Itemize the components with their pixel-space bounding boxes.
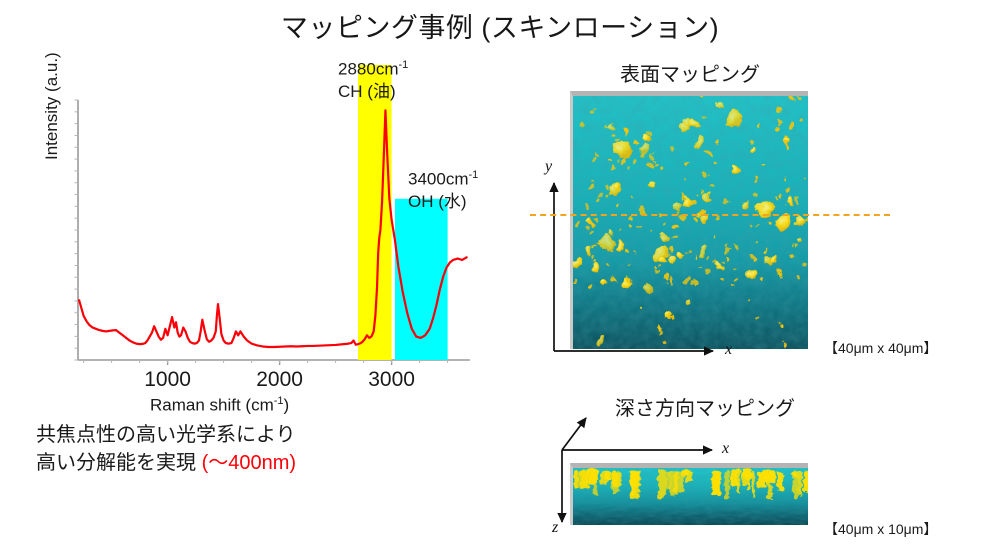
surface-droplet [601, 282, 604, 285]
surface-droplet [673, 202, 683, 212]
surface-droplet [662, 280, 664, 282]
surface-droplet [668, 276, 672, 280]
surface-droplet [789, 242, 791, 244]
surface-droplet [695, 256, 698, 259]
x-tick-label-3000: 3000 [347, 368, 437, 392]
depth-streak [658, 471, 666, 500]
surface-droplet [599, 194, 602, 197]
x-tick-label-2000: 2000 [235, 368, 325, 392]
surface-droplet [710, 185, 713, 188]
surface-droplet [785, 188, 790, 193]
surface-droplet [615, 241, 624, 250]
surface-droplet [777, 119, 781, 123]
x-axis-title-paren: ) [284, 396, 290, 415]
surface-droplet [616, 138, 619, 141]
surface-droplet [691, 120, 699, 128]
surface-droplet [749, 258, 754, 263]
surface-droplet [639, 145, 648, 154]
annotation-ch-wavenumber: 2880cm [338, 60, 398, 79]
surface-droplet [591, 182, 594, 185]
surface-droplet [621, 279, 630, 288]
depth-streak [757, 472, 767, 488]
depth-z-axis-label: z [552, 519, 558, 537]
surface-droplet [742, 202, 749, 209]
surface-droplet [668, 148, 672, 152]
surface-droplet [610, 263, 612, 265]
surface-droplet [728, 255, 732, 259]
surface-droplet [792, 124, 796, 128]
surface-droplet [642, 209, 645, 212]
surface-mapping-render [573, 96, 808, 349]
surface-droplet [774, 126, 778, 130]
depth-streak [736, 469, 740, 494]
annotation-ch-line2: CH (油) [338, 81, 408, 103]
depth-y-axis [562, 418, 586, 450]
surface-droplet [652, 158, 654, 160]
surface-droplet [725, 243, 729, 247]
depth-mapping-image [570, 463, 808, 525]
surface-droplet [647, 161, 652, 166]
surface-droplet [609, 249, 612, 252]
surface-droplet [674, 224, 678, 228]
surface-droplet [737, 277, 740, 280]
surface-droplet [612, 183, 618, 189]
surface-droplet [796, 276, 800, 280]
surface-droplet [670, 256, 677, 263]
surface-droplet [631, 195, 634, 198]
surface-droplet [734, 245, 739, 250]
surface-droplet [763, 248, 767, 252]
surface-droplet [598, 198, 603, 203]
surface-droplet [753, 193, 758, 198]
surface-droplet [702, 191, 712, 201]
depth-dimension-label: 【40μm x 10μm】 [824, 519, 937, 539]
depth-streak [574, 471, 579, 489]
surface-droplet [658, 265, 661, 268]
depth-streak [713, 469, 721, 496]
surface-droplet [633, 139, 638, 144]
annotation-oh-line1: 3400cm-1 [408, 168, 478, 191]
surface-droplet [732, 270, 735, 273]
surface-droplet [685, 277, 691, 283]
surface-droplet [639, 226, 641, 228]
depth-streak [685, 470, 693, 482]
surface-mapping-heading: 表面マッピング [560, 58, 820, 87]
surface-droplet [680, 216, 685, 221]
surface-droplet [694, 196, 697, 199]
surface-droplet [626, 166, 630, 170]
surface-dimension-label: 【40μm x 40μm】 [824, 338, 937, 358]
spectrum-plot-svg [30, 55, 510, 415]
depth-streak [631, 470, 639, 499]
depth-streak [777, 471, 783, 491]
surface-droplet [605, 281, 610, 286]
y-axis-title: Intensity (a.u.) [42, 52, 62, 160]
surface-droplet [749, 139, 754, 144]
surface-droplet [590, 187, 593, 190]
surface-droplet [707, 268, 712, 273]
surface-droplet [713, 161, 717, 165]
surface-droplet [778, 269, 782, 273]
surface-droplet [590, 263, 599, 272]
depth-streak [808, 472, 809, 498]
surface-droplet [725, 111, 741, 127]
surface-droplet [747, 267, 756, 276]
surface-droplet [642, 134, 650, 142]
surface-droplet [779, 324, 783, 328]
surface-droplet [748, 146, 754, 152]
caption-line-2-black: 高い分解能を実現 [36, 452, 202, 474]
surface-droplet [639, 305, 643, 309]
surface-droplet [594, 155, 599, 160]
x-tick-label-1000: 1000 [123, 368, 213, 392]
depth-streak [725, 470, 730, 499]
depth-x-axis-label: x [722, 440, 729, 458]
surface-droplet [686, 177, 688, 179]
surface-droplet [715, 261, 718, 264]
surface-droplet [777, 191, 781, 195]
surface-droplet [633, 250, 636, 253]
surface-droplet [628, 225, 633, 230]
caption-line-1: 共焦点性の高い光学系により [36, 421, 296, 449]
surface-droplet [654, 266, 657, 269]
annotation-ch-line1: 2880cm-1 [338, 58, 408, 81]
surface-droplet [590, 232, 593, 235]
surface-droplet [625, 248, 630, 253]
surface-droplet [656, 325, 661, 330]
surface-droplet [664, 221, 668, 225]
surface-droplet [588, 218, 595, 225]
surface-droplet [614, 140, 632, 158]
surface-droplet [666, 315, 674, 323]
surface-droplet [787, 144, 792, 149]
surface-droplet [669, 283, 673, 287]
surface-droplet [767, 221, 771, 225]
surface-droplet [615, 158, 618, 161]
surface-droplet [763, 256, 772, 265]
raman-spectrum-chart: 1000 2000 3000 [30, 55, 510, 415]
surface-droplet [592, 253, 595, 256]
surface-droplet [700, 248, 708, 256]
surface-droplet [780, 107, 782, 109]
surface-droplet [795, 217, 804, 226]
surface-droplet [774, 196, 777, 199]
surface-droplet [654, 161, 658, 165]
surface-droplet [627, 263, 629, 265]
surface-droplet [648, 130, 653, 135]
surface-droplet [661, 233, 671, 243]
surface-droplet [739, 120, 741, 122]
resolution-caption: 共焦点性の高い光学系により 高い分解能を実現 (〜400nm) [36, 421, 296, 478]
surface-droplet [611, 133, 615, 137]
surface-droplet [754, 316, 757, 319]
surface-droplet [662, 272, 666, 276]
depth-streak [752, 472, 755, 498]
surface-droplet [700, 267, 702, 269]
plot-area [75, 65, 471, 365]
surface-droplet [779, 273, 781, 275]
surface-droplet [606, 193, 609, 196]
surface-droplet [641, 283, 652, 294]
surface-droplet [792, 243, 795, 246]
annotation-ch-superscript: -1 [398, 59, 408, 71]
depth-streak [798, 472, 802, 495]
surface-droplet [781, 341, 786, 346]
surface-droplet [799, 117, 803, 121]
surface-droplet [599, 237, 613, 251]
depth-streak [790, 472, 799, 479]
surface-droplet [593, 160, 597, 164]
surface-droplet [609, 122, 615, 128]
surface-droplet [691, 283, 695, 287]
surface-droplet [737, 166, 741, 170]
surface-droplet [758, 277, 763, 282]
page-title: マッピング事例 (スキンローション) [0, 6, 1000, 45]
surface-droplet [724, 199, 729, 204]
surface-droplet [724, 247, 729, 252]
surface-droplet [669, 249, 673, 253]
surface-droplet [680, 196, 683, 199]
surface-droplet [708, 257, 710, 259]
surface-x-axis-label: x [725, 341, 732, 359]
depth-streak [771, 472, 774, 482]
surface-droplet [752, 179, 756, 183]
annotation-oh-superscript: -1 [468, 169, 478, 181]
surface-droplet [797, 97, 799, 99]
surface-droplet [603, 184, 607, 188]
surface-droplet [795, 237, 802, 244]
surface-droplet [776, 216, 791, 231]
depth-streak [601, 471, 608, 484]
surface-droplet [592, 109, 596, 113]
surface-droplet [622, 131, 627, 136]
surface-droplet [596, 215, 601, 220]
surface-droplet [593, 245, 596, 248]
surface-droplet [788, 197, 796, 205]
depth-streak [803, 472, 808, 493]
surface-droplet [618, 205, 621, 208]
surface-droplet [653, 270, 657, 274]
surface-droplet [715, 141, 718, 144]
surface-droplet [633, 158, 638, 163]
surface-droplet [692, 219, 697, 224]
surface-droplet [723, 258, 725, 260]
depth-mapping-render [573, 468, 808, 525]
x-axis-title-main: Raman shift (cm [150, 396, 274, 415]
surface-droplet [663, 168, 666, 171]
surface-droplet [613, 277, 617, 281]
x-axis-title-superscript: -1 [274, 395, 284, 407]
surface-droplet [605, 124, 609, 128]
caption-line-2: 高い分解能を実現 (〜400nm) [36, 449, 296, 477]
surface-droplet [696, 137, 705, 146]
surface-droplet [762, 163, 765, 166]
highlight-band-1 [395, 199, 448, 360]
surface-droplet [788, 97, 792, 101]
surface-droplet [718, 279, 721, 282]
surface-droplet [684, 300, 691, 307]
surface-droplet [647, 183, 654, 190]
surface-droplet [733, 284, 737, 288]
surface-droplet [684, 162, 687, 165]
surface-droplet [712, 237, 714, 239]
surface-droplet [717, 102, 723, 108]
surface-droplet [604, 160, 607, 163]
surface-droplet [679, 250, 687, 258]
surface-droplet [705, 152, 711, 158]
annotation-oh-peak: 3400cm-1 OH (水) [408, 168, 478, 214]
surface-droplet [648, 233, 651, 236]
surface-droplet [699, 189, 704, 194]
surface-droplet [791, 253, 796, 258]
surface-droplet [755, 242, 757, 244]
surface-droplet [798, 198, 802, 202]
surface-droplet [621, 158, 624, 161]
surface-droplet [747, 300, 749, 302]
surface-droplet [758, 124, 762, 128]
surface-mapping-image [570, 91, 808, 349]
surface-droplet [667, 253, 671, 257]
surface-guide-line [530, 214, 890, 216]
annotation-ch-peak: 2880cm-1 CH (油) [338, 58, 408, 104]
surface-droplet [610, 167, 615, 172]
depth-streak [612, 471, 620, 492]
surface-droplet [757, 224, 759, 226]
x-axis-title: Raman shift (cm-1) [150, 395, 289, 416]
surface-droplet [758, 202, 775, 219]
surface-droplet [784, 134, 788, 138]
surface-droplet [651, 153, 655, 157]
surface-droplet [597, 242, 600, 245]
depth-streak [742, 470, 747, 476]
depth-streak [674, 471, 684, 493]
annotation-oh-wavenumber: 3400cm [408, 170, 468, 189]
surface-x-axis-group [528, 330, 738, 370]
surface-droplet [581, 121, 586, 126]
surface-y-axis-label: y [545, 158, 552, 176]
surface-droplet [661, 257, 668, 264]
annotation-oh-line2: OH (水) [408, 191, 478, 213]
surface-droplet [701, 172, 706, 177]
surface-droplet [771, 257, 777, 263]
surface-droplet [704, 117, 707, 120]
surface-droplet [751, 223, 753, 225]
surface-droplet [783, 179, 786, 182]
surface-droplet [694, 281, 699, 286]
depth-streak [586, 469, 596, 483]
surface-droplet [672, 235, 676, 239]
surface-droplet [592, 259, 596, 263]
surface-droplet [621, 230, 623, 232]
surface-droplet [608, 230, 615, 237]
caption-line-2-red: (〜400nm) [202, 452, 296, 474]
